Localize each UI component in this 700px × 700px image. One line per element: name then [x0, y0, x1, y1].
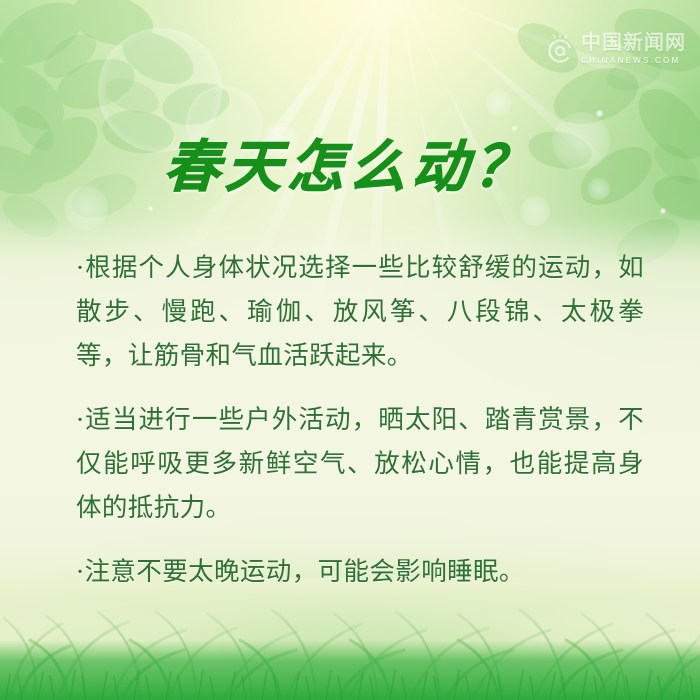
page-title: 春天怎么动？ — [0, 140, 700, 196]
watermark-site-name: 中国新闻网 — [581, 33, 686, 53]
grass-band — [0, 578, 700, 700]
body-copy: ·根据个人身体状况选择一些比较舒缓的运动，如散步、慢跑、瑜伽、放风筝、八段锦、太… — [76, 246, 644, 594]
poster-canvas: 中国新闻网 CHINANEWS.COM 春天怎么动？ ·根据个人身体状况选择一些… — [0, 0, 700, 700]
watermark-site-url: CHINANEWS.COM — [581, 56, 686, 65]
chinanews-watermark: 中国新闻网 CHINANEWS.COM — [546, 33, 686, 65]
paragraph-2: ·适当进行一些户外活动，晒太阳、踏青赏景，不仅能呼吸更多新鲜空气、放松心情，也能… — [76, 398, 644, 530]
at-sign-icon — [546, 34, 576, 64]
paragraph-1: ·根据个人身体状况选择一些比较舒缓的运动，如散步、慢跑、瑜伽、放风筝、八段锦、太… — [76, 246, 644, 378]
paragraph-3: ·注意不要太晚运动，可能会影响睡眠。 — [76, 550, 644, 594]
